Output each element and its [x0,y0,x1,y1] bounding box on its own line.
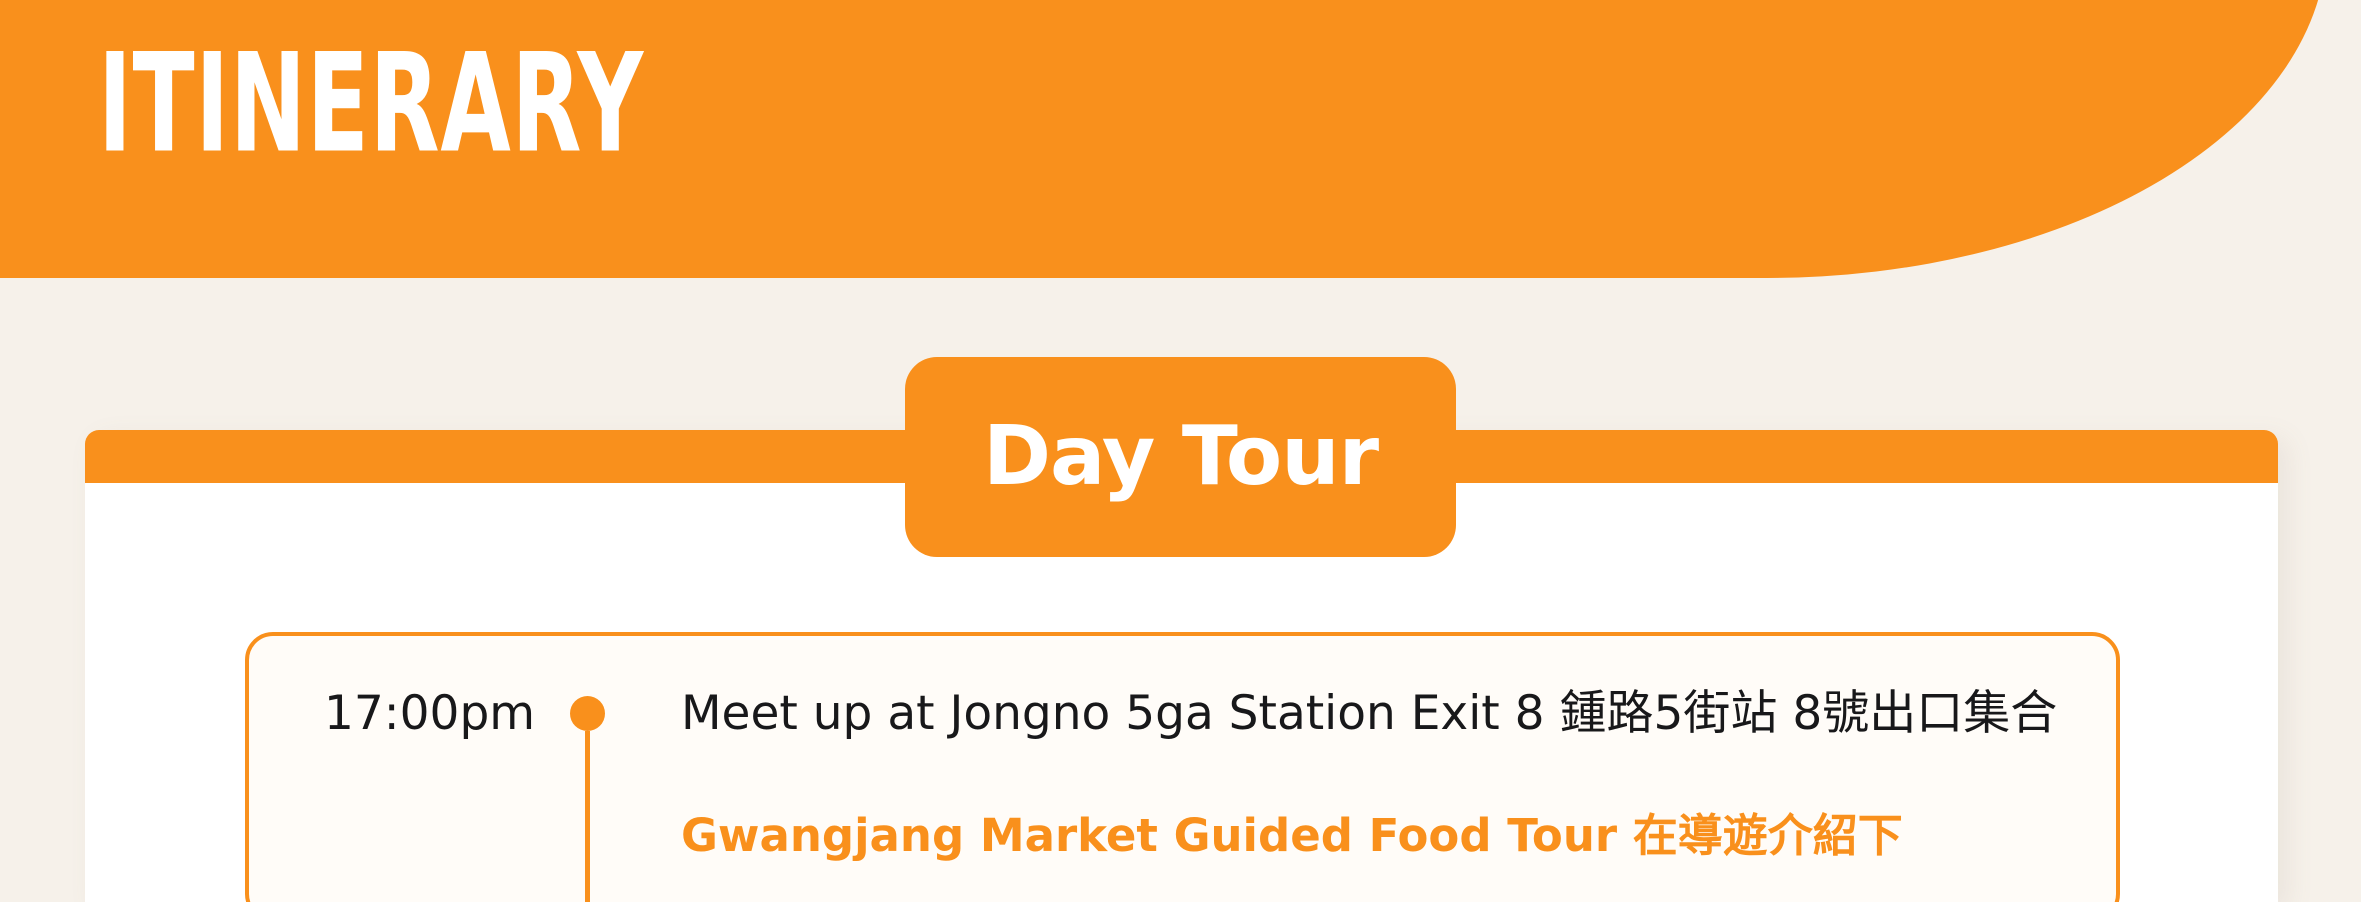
day-tour-badge[interactable]: Day Tour [905,357,1456,557]
day-tour-badge-label: Day Tour [983,416,1378,498]
header-banner: ITINERARY [0,0,2327,278]
timeline-entry-text: Gwangjang Market Guided Food Tour 在導遊介紹下 [681,806,1903,866]
timeline-connector-line [585,731,590,902]
timeline-entry-time: 17:00pm [324,684,554,744]
timeline-dot-icon [570,696,605,731]
timeline-entry-text: Meet up at Jongno 5ga Station Exit 8 鍾路5… [681,684,2057,744]
page-title: ITINERARY [98,35,644,172]
itinerary-page: ITINERARY Day Tour 17:00pm Meet up at Jo… [0,0,2361,902]
timeline-box: 17:00pm Meet up at Jongno 5ga Station Ex… [245,632,2120,902]
